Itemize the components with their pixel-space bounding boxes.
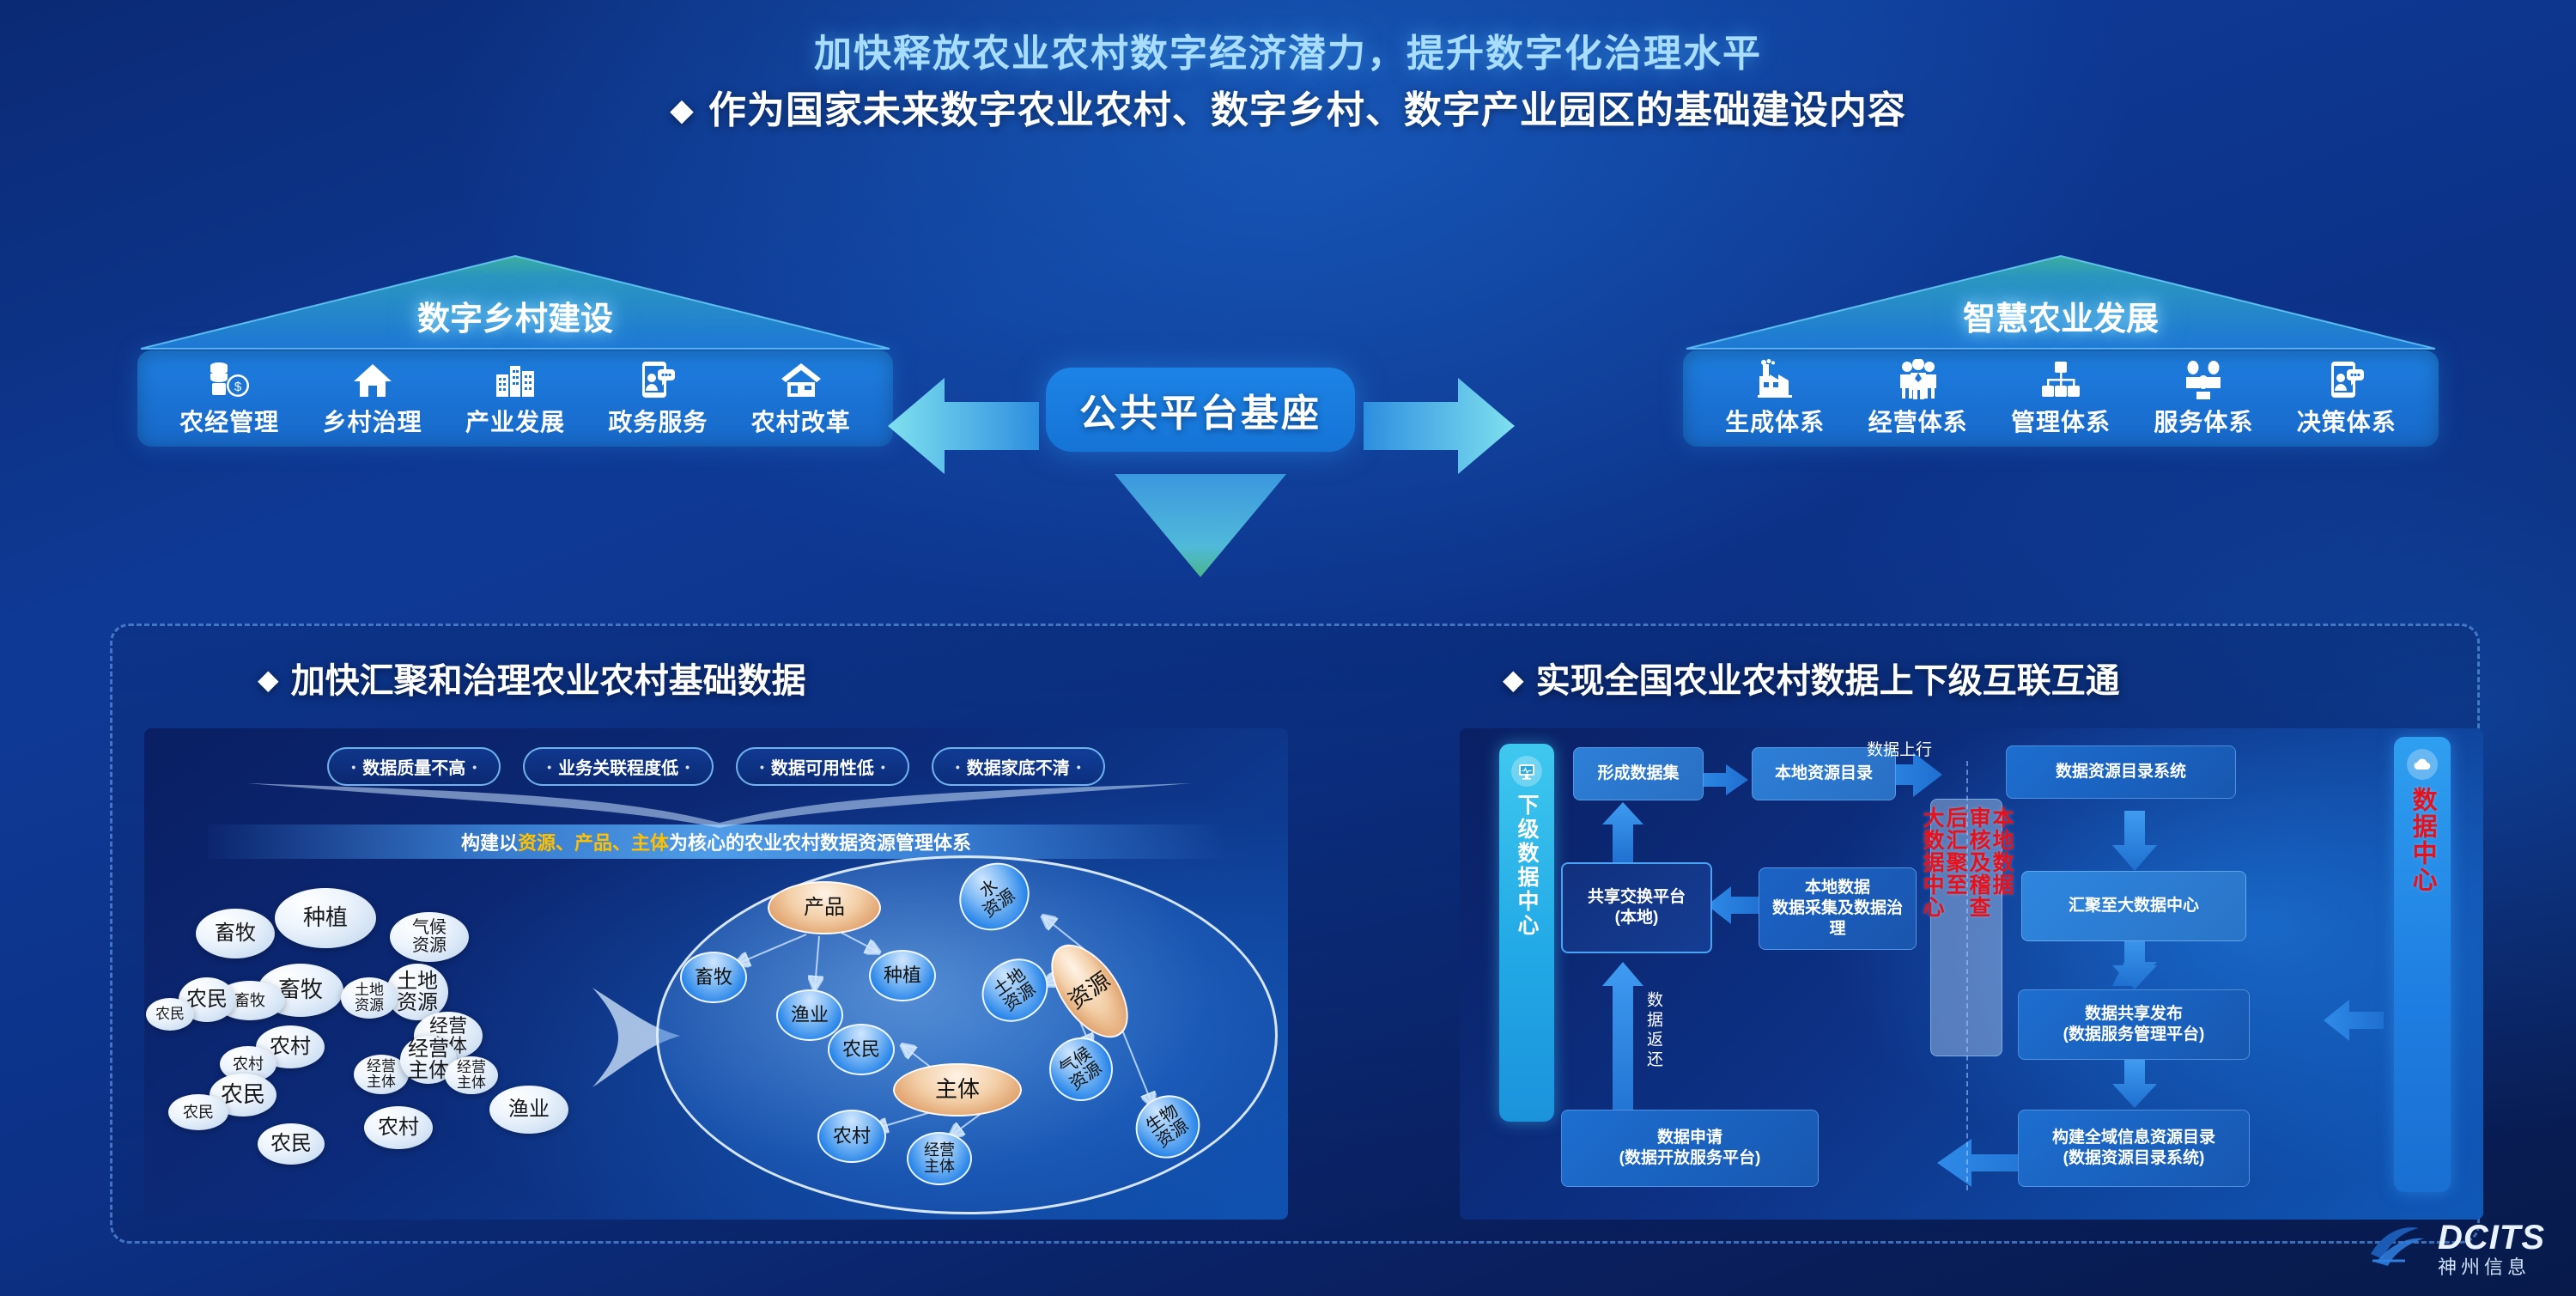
feature-label: 服务体系 — [2154, 404, 2253, 438]
page-subtitle: ◆作为国家未来数字农业农村、数字乡村、数字产业园区的基础建设内容 — [0, 79, 2576, 134]
feature-nongcun-gaige[interactable]: 农村改革 — [737, 359, 866, 438]
page-title: 加快释放农业农村数字经济潜力，提升数字化治理水平 — [0, 22, 2576, 77]
data-bubble: 农民 — [258, 1123, 325, 1165]
buildings-icon — [493, 359, 538, 400]
ellipse-node: 种植 — [869, 950, 936, 1001]
data-bubble: 农民 — [168, 1094, 228, 1130]
banner-suffix: 为核心的农业农村数据资源管理体系 — [669, 828, 971, 855]
core-platform-label: 公共平台基座 — [1079, 382, 1321, 437]
bullet-dot-icon: • — [956, 760, 960, 774]
pill-label: 数据可用性低 — [771, 754, 874, 779]
flow-box-data-apply[interactable]: 数据申请 (数据开放服务平台) — [1561, 1110, 1819, 1187]
flow-box-gather-bigdata[interactable]: 汇聚至大数据中心 — [2021, 871, 2246, 941]
feature-label: 经营体系 — [1868, 404, 1968, 438]
page-subtitle-text: 作为国家未来数字农业农村、数字乡村、数字产业园区的基础建设内容 — [708, 89, 1906, 131]
flow-box-share-publish[interactable]: 数据共享发布 (数据服务管理平台) — [2018, 989, 2250, 1060]
right-house-panel: 智慧农业发展 生成体系 — [1683, 254, 2439, 447]
left-roof-label: 数字乡村建设 — [137, 292, 893, 339]
governance-banner: 构建以资源、产品、主体为核心的农业农村数据资源管理体系 — [208, 824, 1224, 859]
home-icon — [350, 359, 395, 400]
data-governance-diagram: •数据质量不高• •业务关联程度低• •数据可用性低• •数据家底不清• 构建以… — [144, 728, 1288, 1220]
main-data-center-label: 数据中心 — [2404, 787, 2440, 893]
arrow-left-icon — [884, 374, 1039, 482]
bullet-dot-icon: • — [760, 760, 764, 774]
sub-data-center-label: 下级数据中心 — [1511, 794, 1542, 938]
pill-label: 业务关联程度低 — [558, 754, 678, 779]
diamond-bullet-icon: ◆ — [1503, 664, 1524, 695]
arrow-right-icon — [1364, 374, 1518, 482]
main-data-center-bar[interactable]: 数据中心 — [2394, 737, 2451, 1192]
feature-juece-tixi[interactable]: 决策体系 — [2282, 359, 2411, 438]
logo-english: DCITS — [2438, 1220, 2545, 1255]
left-roof: 数字乡村建设 — [137, 254, 893, 350]
factory-icon — [1753, 359, 1797, 400]
flow-box-share-exchange[interactable]: 共享交换平台 (本地) — [1561, 862, 1712, 953]
ellipse-node: 渔业 — [776, 989, 843, 1041]
bullet-dot-icon: • — [1077, 760, 1081, 774]
label-data-upstream: 数据上行 — [1867, 737, 1932, 760]
feature-label: 管理体系 — [2011, 404, 2111, 438]
flow-box-form-dataset[interactable]: 形成数据集 — [1573, 747, 1704, 800]
data-bubble: 经营 主体 — [445, 1056, 498, 1094]
note-col-3: 后汇聚至 — [1944, 806, 1965, 896]
feature-label: 政务服务 — [608, 404, 708, 438]
bullet-dot-icon: • — [881, 760, 885, 774]
data-bubble: 农民 — [146, 998, 194, 1031]
feature-label: 乡村治理 — [323, 404, 422, 438]
right-roof-label: 智慧农业发展 — [1683, 292, 2439, 339]
monitor-icon — [1511, 756, 1542, 787]
banner-prefix: 构建以 — [461, 828, 518, 855]
feature-guanli-tixi[interactable]: 管理体系 — [1996, 359, 2125, 438]
data-bubble: 种植 — [275, 888, 376, 948]
bullet-dot-icon: • — [547, 760, 551, 774]
ellipse-node: 产品 — [768, 881, 881, 934]
data-bubble: 畜牧 — [196, 909, 275, 958]
left-house-panel: 数字乡村建设 $ 农经管理 — [137, 254, 893, 447]
feature-fuwu-tixi[interactable]: 服务体系 — [2139, 359, 2268, 438]
feature-xiangcun-zhili[interactable]: 乡村治理 — [308, 359, 437, 438]
section-right-heading: ◆实现全国农业农村数据上下级互联互通 — [1503, 653, 2120, 703]
logo-text: DCITS 神州信息 — [2438, 1220, 2545, 1277]
bullet-dot-icon: • — [685, 760, 690, 774]
bullet-dot-icon: • — [351, 760, 355, 774]
feature-label: 农村改革 — [751, 404, 851, 438]
feature-label: 产业发展 — [465, 404, 565, 438]
logo-mark-icon — [2367, 1220, 2429, 1277]
feature-jingying-tixi[interactable]: 经营体系 — [1854, 359, 1983, 438]
ellipse-node: 主体 — [893, 1063, 1022, 1117]
feature-shengcheng-tixi[interactable]: 生成体系 — [1710, 359, 1839, 438]
people-service-icon — [2181, 359, 2226, 400]
ellipse-node: 畜牧 — [680, 952, 747, 1003]
ellipse-node: 经营 主体 — [907, 1132, 972, 1185]
feature-nongjing-guanli[interactable]: $ 农经管理 — [165, 359, 294, 438]
diamond-bullet-icon: ◆ — [258, 664, 279, 695]
structured-data-ellipse: 产品畜牧渔业种植农民主体农村经营 主体水 资源土地 资源资源气候 资源生物 资源 — [656, 855, 1278, 1214]
note-red-audit: 本地数据 审核及稽查 后汇聚至 大数据中心 — [1930, 799, 2002, 1056]
section-right-heading-text: 实现全国农业农村数据上下级互联互通 — [1536, 662, 2120, 700]
feature-zhengwu-fuwu[interactable]: 政务服务 — [593, 359, 722, 438]
feature-label: 决策体系 — [2297, 404, 2397, 438]
data-bubble: 土地 资源 — [341, 977, 398, 1019]
feature-label: 生成体系 — [1725, 404, 1825, 438]
right-feature-bar: 生成体系 经营体系 — [1683, 350, 2439, 447]
feature-chanye-fazhan[interactable]: 产业发展 — [451, 359, 580, 438]
slide-root: 加快释放农业农村数字经济潜力，提升数字化治理水平 ◆作为国家未来数字农业农村、数… — [0, 0, 2576, 1296]
core-platform-pill[interactable]: 公共平台基座 — [1046, 368, 1355, 452]
flow-box-local-data[interactable]: 本地数据 数据采集及数据治理 — [1759, 867, 1917, 950]
section-left-heading: ◆加快汇聚和治理农业农村基础数据 — [258, 653, 806, 703]
left-feature-bar: $ 农经管理 乡村治理 — [137, 350, 893, 447]
ellipse-node: 农民 — [828, 1024, 895, 1075]
right-roof: 智慧农业发展 — [1683, 254, 2439, 350]
sub-data-center-bar[interactable]: 下级数据中心 — [1499, 744, 1554, 1122]
bullet-dot-icon: • — [472, 760, 477, 774]
cloud-icon — [2407, 749, 2438, 780]
mobile-service-icon — [635, 359, 680, 400]
data-bubble: 农村 — [364, 1106, 433, 1149]
unstructured-bubble-cloud: 畜牧种植气候 资源土地 资源畜牧畜牧农民农民土地 资源经营 主体农村农村农民农民… — [156, 881, 603, 1199]
note-col-2: 审核及稽查 — [1967, 806, 1989, 918]
diamond-bullet-icon: ◆ — [670, 92, 695, 127]
flow-box-catalog-system[interactable]: 数据资源目录系统 — [2006, 745, 2236, 799]
people-group-icon — [1896, 359, 1941, 400]
data-bubble: 气候 资源 — [390, 912, 469, 962]
org-chart-icon — [2038, 359, 2083, 400]
label-data-return: 数据返还 — [1642, 991, 1665, 1070]
feature-label: 农经管理 — [179, 404, 279, 438]
pill-label: 数据质量不高 — [362, 754, 465, 779]
coins-money-icon: $ — [207, 359, 252, 400]
banner-highlight: 资源、产品、主体 — [518, 828, 669, 855]
ellipse-node: 农村 — [817, 1110, 886, 1163]
pill-label: 数据家底不清 — [967, 754, 1070, 779]
svg-text:$: $ — [234, 380, 242, 394]
data-interconnect-diagram: 下级数据中心 数据中心 — [1460, 728, 2483, 1220]
mobile-decision-icon — [2324, 359, 2369, 400]
arrow-down-icon — [1106, 469, 1295, 585]
funnel-shape-icon — [247, 778, 1192, 830]
brand-logo: DCITS 神州信息 — [2367, 1220, 2545, 1277]
flow-box-build-catalog[interactable]: 构建全域信息资源目录 (数据资源目录系统) — [2018, 1110, 2250, 1187]
section-left-heading-text: 加快汇聚和治理农业农村基础数据 — [291, 662, 806, 700]
house-reform-icon — [779, 359, 823, 400]
note-col-1: 本地数据 — [1990, 806, 2012, 896]
note-col-4: 大数据中心 — [1921, 806, 1942, 918]
logo-chinese: 神州信息 — [2438, 1258, 2545, 1277]
data-bubble: 渔业 — [489, 1086, 568, 1134]
